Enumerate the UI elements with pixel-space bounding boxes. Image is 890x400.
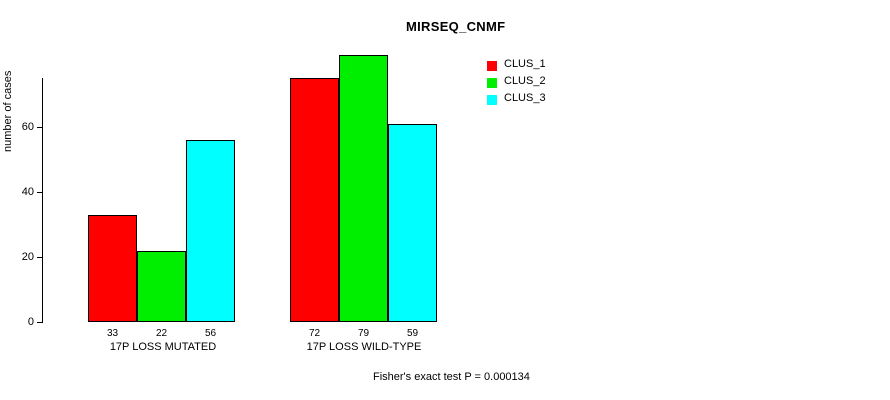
bar-count-group2-clus3: 59: [388, 328, 437, 339]
bar-group2-clus1[interactable]: [290, 78, 339, 322]
y-tick-label-40: 40: [14, 186, 34, 198]
y-tick-mark-20: [37, 257, 42, 258]
bar-group1-clus3[interactable]: [186, 140, 235, 322]
group-label-17p-loss-mutated: 17P LOSS MUTATED: [66, 341, 260, 353]
y-tick-label-60: 60: [14, 121, 34, 133]
legend-swatch-clus1: [487, 61, 497, 71]
y-tick-label-0: 0: [14, 316, 34, 328]
y-tick-mark-60: [37, 127, 42, 128]
y-tick-mark-0: [37, 322, 42, 323]
bar-count-group1-clus3: 56: [186, 328, 235, 339]
legend-label-clus3: CLUS_3: [504, 92, 546, 104]
bar-count-group2-clus2: 79: [339, 328, 388, 339]
bar-count-group2-clus1: 72: [290, 328, 339, 339]
bar-group1-clus2[interactable]: [137, 251, 186, 322]
bar-group2-clus3[interactable]: [388, 124, 437, 322]
legend-label-clus1: CLUS_1: [504, 58, 546, 70]
y-tick-mark-40: [37, 192, 42, 193]
bar-group2-clus2[interactable]: [339, 55, 388, 322]
legend-swatch-clus3: [487, 95, 497, 105]
chart-title: MIRSEQ_CNMF: [406, 19, 505, 34]
y-tick-label-20: 20: [14, 251, 34, 263]
statistical-test-annotation: Fisher's exact test P = 0.000134: [373, 371, 530, 383]
legend-swatch-clus2: [487, 78, 497, 88]
chart-canvas: MIRSEQ_CNMF number of cases 0 20 40 60 3…: [0, 0, 890, 400]
group-label-17p-loss-wild-type: 17P LOSS WILD-TYPE: [266, 341, 462, 353]
bar-count-group1-clus1: 33: [88, 328, 137, 339]
legend-label-clus2: CLUS_2: [504, 75, 546, 87]
y-axis-label: number of cases: [2, 71, 14, 152]
bar-group1-clus1[interactable]: [88, 215, 137, 322]
bar-count-group1-clus2: 22: [137, 328, 186, 339]
y-axis-line: [42, 78, 43, 323]
